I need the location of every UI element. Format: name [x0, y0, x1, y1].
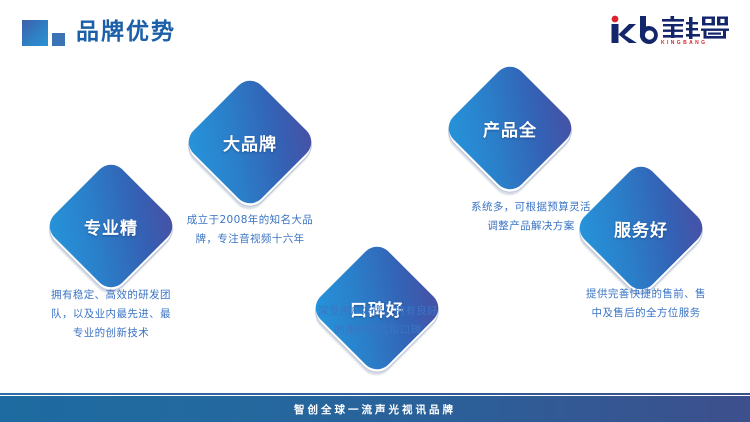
advantage-caption-koubeihao: 深受用户好评，拥有良好 的用户体验和口碑: [287, 302, 469, 340]
brand-logo: KINGBANG: [604, 14, 736, 46]
square-gradient-icon: [22, 20, 48, 46]
advantage-caption-chanpinquan: 系统多，可根据预算灵活 调整产品解决方案: [440, 198, 622, 236]
footer-divider: [0, 393, 750, 395]
diamond-face: [442, 60, 578, 196]
advantage-caption-fuwuhao: 提供完善快捷的售前、售 中及售后的全方位服务: [555, 285, 737, 323]
advantage-caption-zhuanyejing: 拥有稳定、高效的研发团 队，以及业内最先进、最 专业的创新技术: [20, 286, 202, 343]
advantage-caption-dapinpai: 成立于2008年的知名大品 牌，专注音视频十六年: [158, 211, 342, 249]
page-title: 品牌优势: [76, 16, 176, 48]
square-solid-icon: [52, 33, 65, 46]
logo-latin-name: KINGBANG: [661, 40, 707, 46]
diamond-shape: [442, 60, 578, 196]
slide-canvas: 品牌优势: [0, 0, 750, 422]
diamond-shape: [182, 74, 318, 210]
logo-artwork: KINGBANG: [604, 13, 736, 47]
diamond-face: [182, 74, 318, 210]
footer-slogan: 智创全球一流声光视讯品牌: [0, 396, 750, 422]
